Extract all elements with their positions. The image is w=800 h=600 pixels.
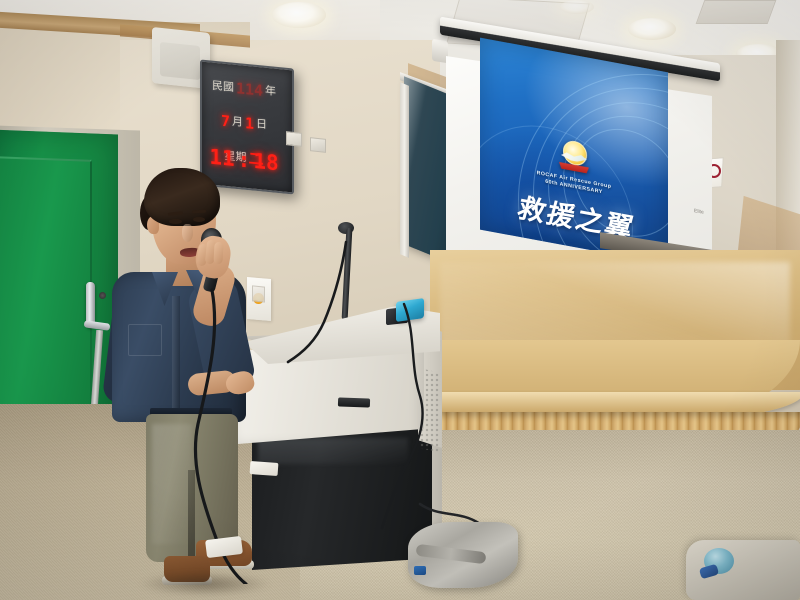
clock-year-suffix-label: 年 [265, 86, 276, 98]
presenter-floor-shadow [140, 572, 270, 596]
screenshot-root: 民國 114 年 7 月 1 日 星期 二 11 : 18 [0, 0, 800, 600]
whiteboard-surface [404, 76, 452, 263]
podium-mic-cable [238, 240, 358, 370]
whiteboard-frame-left [400, 82, 409, 258]
pants-highlight [152, 424, 192, 544]
presenter-finger-3 [213, 242, 223, 264]
ceiling-downlight-4 [560, 0, 594, 14]
rocaf-air-rescue-group-emblem [559, 138, 589, 178]
presenter-hair [144, 168, 220, 226]
clock-day-value: 1 [245, 117, 254, 133]
bag-tag [414, 566, 426, 575]
wall-outlet-1[interactable] [286, 131, 302, 147]
screen-roller-end-cap [432, 39, 448, 64]
wall-outlet-2[interactable] [310, 137, 326, 153]
clock-date-row: 7 月 1 日 [207, 109, 281, 139]
clock-month-label: 月 [232, 117, 243, 129]
clock-day-label: 日 [256, 120, 267, 132]
clock-year-row: 民國 114 年 [207, 74, 281, 104]
ceiling-downlight-2 [628, 18, 676, 40]
wall-speaker-grille [160, 42, 200, 80]
ceiling-downlight-1 [272, 2, 326, 28]
clock-year-prefix-label: 民國 [212, 81, 234, 94]
clock-year-value: 114 [236, 81, 263, 99]
clock-month-value: 7 [221, 114, 230, 130]
shirt-button-placket [172, 296, 180, 414]
device-power-cable [360, 300, 450, 530]
slide-content-stack: ROCAF Air Rescue Group 60th ANNIVERSARY … [480, 38, 668, 265]
pants-leg-separation [188, 470, 195, 566]
door-recessed-panel [0, 156, 92, 432]
paper-on-stage [250, 461, 279, 476]
ceiling-vent-panel-secondary [696, 0, 777, 24]
presenter-eye-left [169, 219, 182, 224]
shirt-chest-pocket [128, 324, 162, 356]
presenter-eye-right [193, 217, 205, 222]
projected-slide: ROCAF Air Rescue Group 60th ANNIVERSARY … [480, 38, 668, 265]
presenter-nose [182, 224, 193, 242]
